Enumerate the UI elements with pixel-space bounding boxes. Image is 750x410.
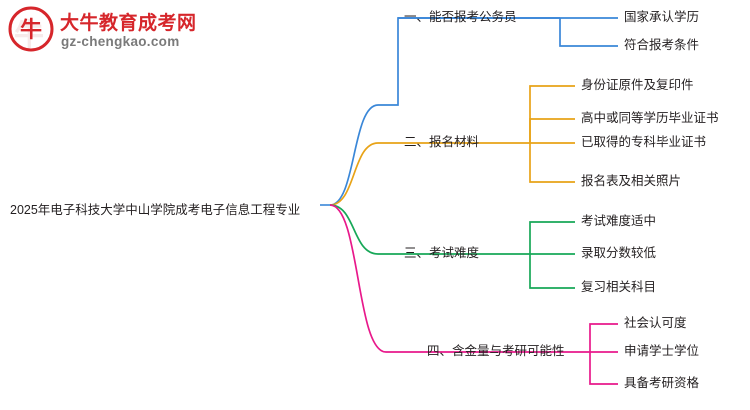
branch-2-child-3[interactable]: 已取得的专科毕业证书 — [581, 135, 706, 150]
branch-4-label[interactable]: 四、含金量与考研可能性 — [427, 344, 565, 359]
branch-4-child-2[interactable]: 申请学士学位 — [624, 344, 699, 359]
branch-3-label[interactable]: 三、考试难度 — [404, 246, 479, 261]
branch-2-child-2[interactable]: 高中或同等学历毕业证书 — [581, 111, 719, 126]
branch-3-child-1[interactable]: 考试难度适中 — [581, 214, 656, 229]
branch-1-child-1[interactable]: 国家承认学历 — [624, 10, 699, 25]
branch-3-child-2[interactable]: 录取分数较低 — [581, 246, 656, 261]
branch-4-child-1[interactable]: 社会认可度 — [624, 316, 687, 331]
branch-2-child-4[interactable]: 报名表及相关照片 — [581, 174, 681, 189]
branch-2-child-1[interactable]: 身份证原件及复印件 — [581, 78, 694, 93]
branch-2-label[interactable]: 二、报名材料 — [404, 135, 479, 150]
branch-4-child-3[interactable]: 具备考研资格 — [624, 376, 699, 391]
mindmap-canvas: 牛 牛 大牛教育成考网 gz-chengkao.com — [0, 0, 750, 410]
branch-1-child-2[interactable]: 符合报考条件 — [624, 38, 699, 53]
root-node-label: 2025年电子科技大学中山学院成考电子信息工程专业 — [10, 199, 300, 218]
branch-1-label[interactable]: 一、能否报考公务员 — [404, 10, 517, 25]
branch-3-child-3[interactable]: 复习相关科目 — [581, 280, 656, 295]
